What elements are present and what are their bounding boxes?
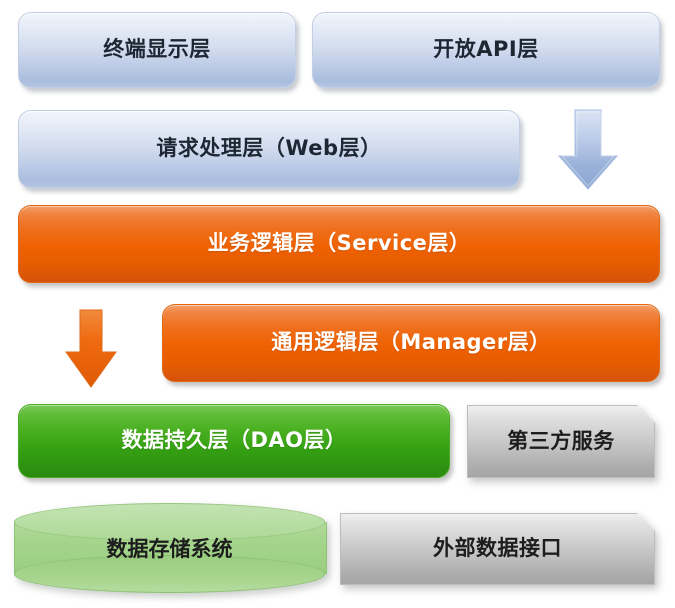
architecture-diagram-canvas: 终端显示层 开放API层 请求处理层（Web层） 业务逻辑层（Service层） <box>0 0 675 608</box>
node-label: 数据存储系统 <box>107 533 233 563</box>
node-label: 数据持久层（DAO层） <box>121 429 346 452</box>
node-label: 终端显示层 <box>103 38 211 61</box>
node-label: 开放API层 <box>433 38 538 61</box>
arrow-web-to-service-down-icon <box>553 108 623 192</box>
node-data-persistence-layer[interactable]: 数据持久层（DAO层） <box>18 404 450 478</box>
arrow-service-to-dao-down-icon <box>62 308 120 390</box>
node-third-party-service[interactable]: 第三方服务 <box>467 405 655 478</box>
node-label-wrapper: 数据存储系统 <box>14 503 325 593</box>
node-business-logic-layer[interactable]: 业务逻辑层（Service层） <box>18 205 660 283</box>
node-external-data-interface[interactable]: 外部数据接口 <box>340 513 655 585</box>
node-third-party-service-wrapper: 第三方服务 <box>467 405 655 478</box>
node-label: 外部数据接口 <box>433 537 562 560</box>
node-request-handling-layer[interactable]: 请求处理层（Web层） <box>18 110 520 188</box>
node-data-storage-system[interactable]: 数据存储系统 <box>14 503 325 593</box>
node-label: 通用逻辑层（Manager层） <box>271 331 550 354</box>
node-label: 请求处理层（Web层） <box>156 137 381 160</box>
node-external-data-interface-wrapper: 外部数据接口 <box>340 513 655 585</box>
node-common-logic-layer[interactable]: 通用逻辑层（Manager层） <box>162 304 660 382</box>
node-label: 第三方服务 <box>507 430 615 453</box>
node-label: 业务逻辑层（Service层） <box>208 232 471 255</box>
node-terminal-display-layer[interactable]: 终端显示层 <box>18 12 296 88</box>
node-open-api-layer[interactable]: 开放API层 <box>312 12 660 88</box>
